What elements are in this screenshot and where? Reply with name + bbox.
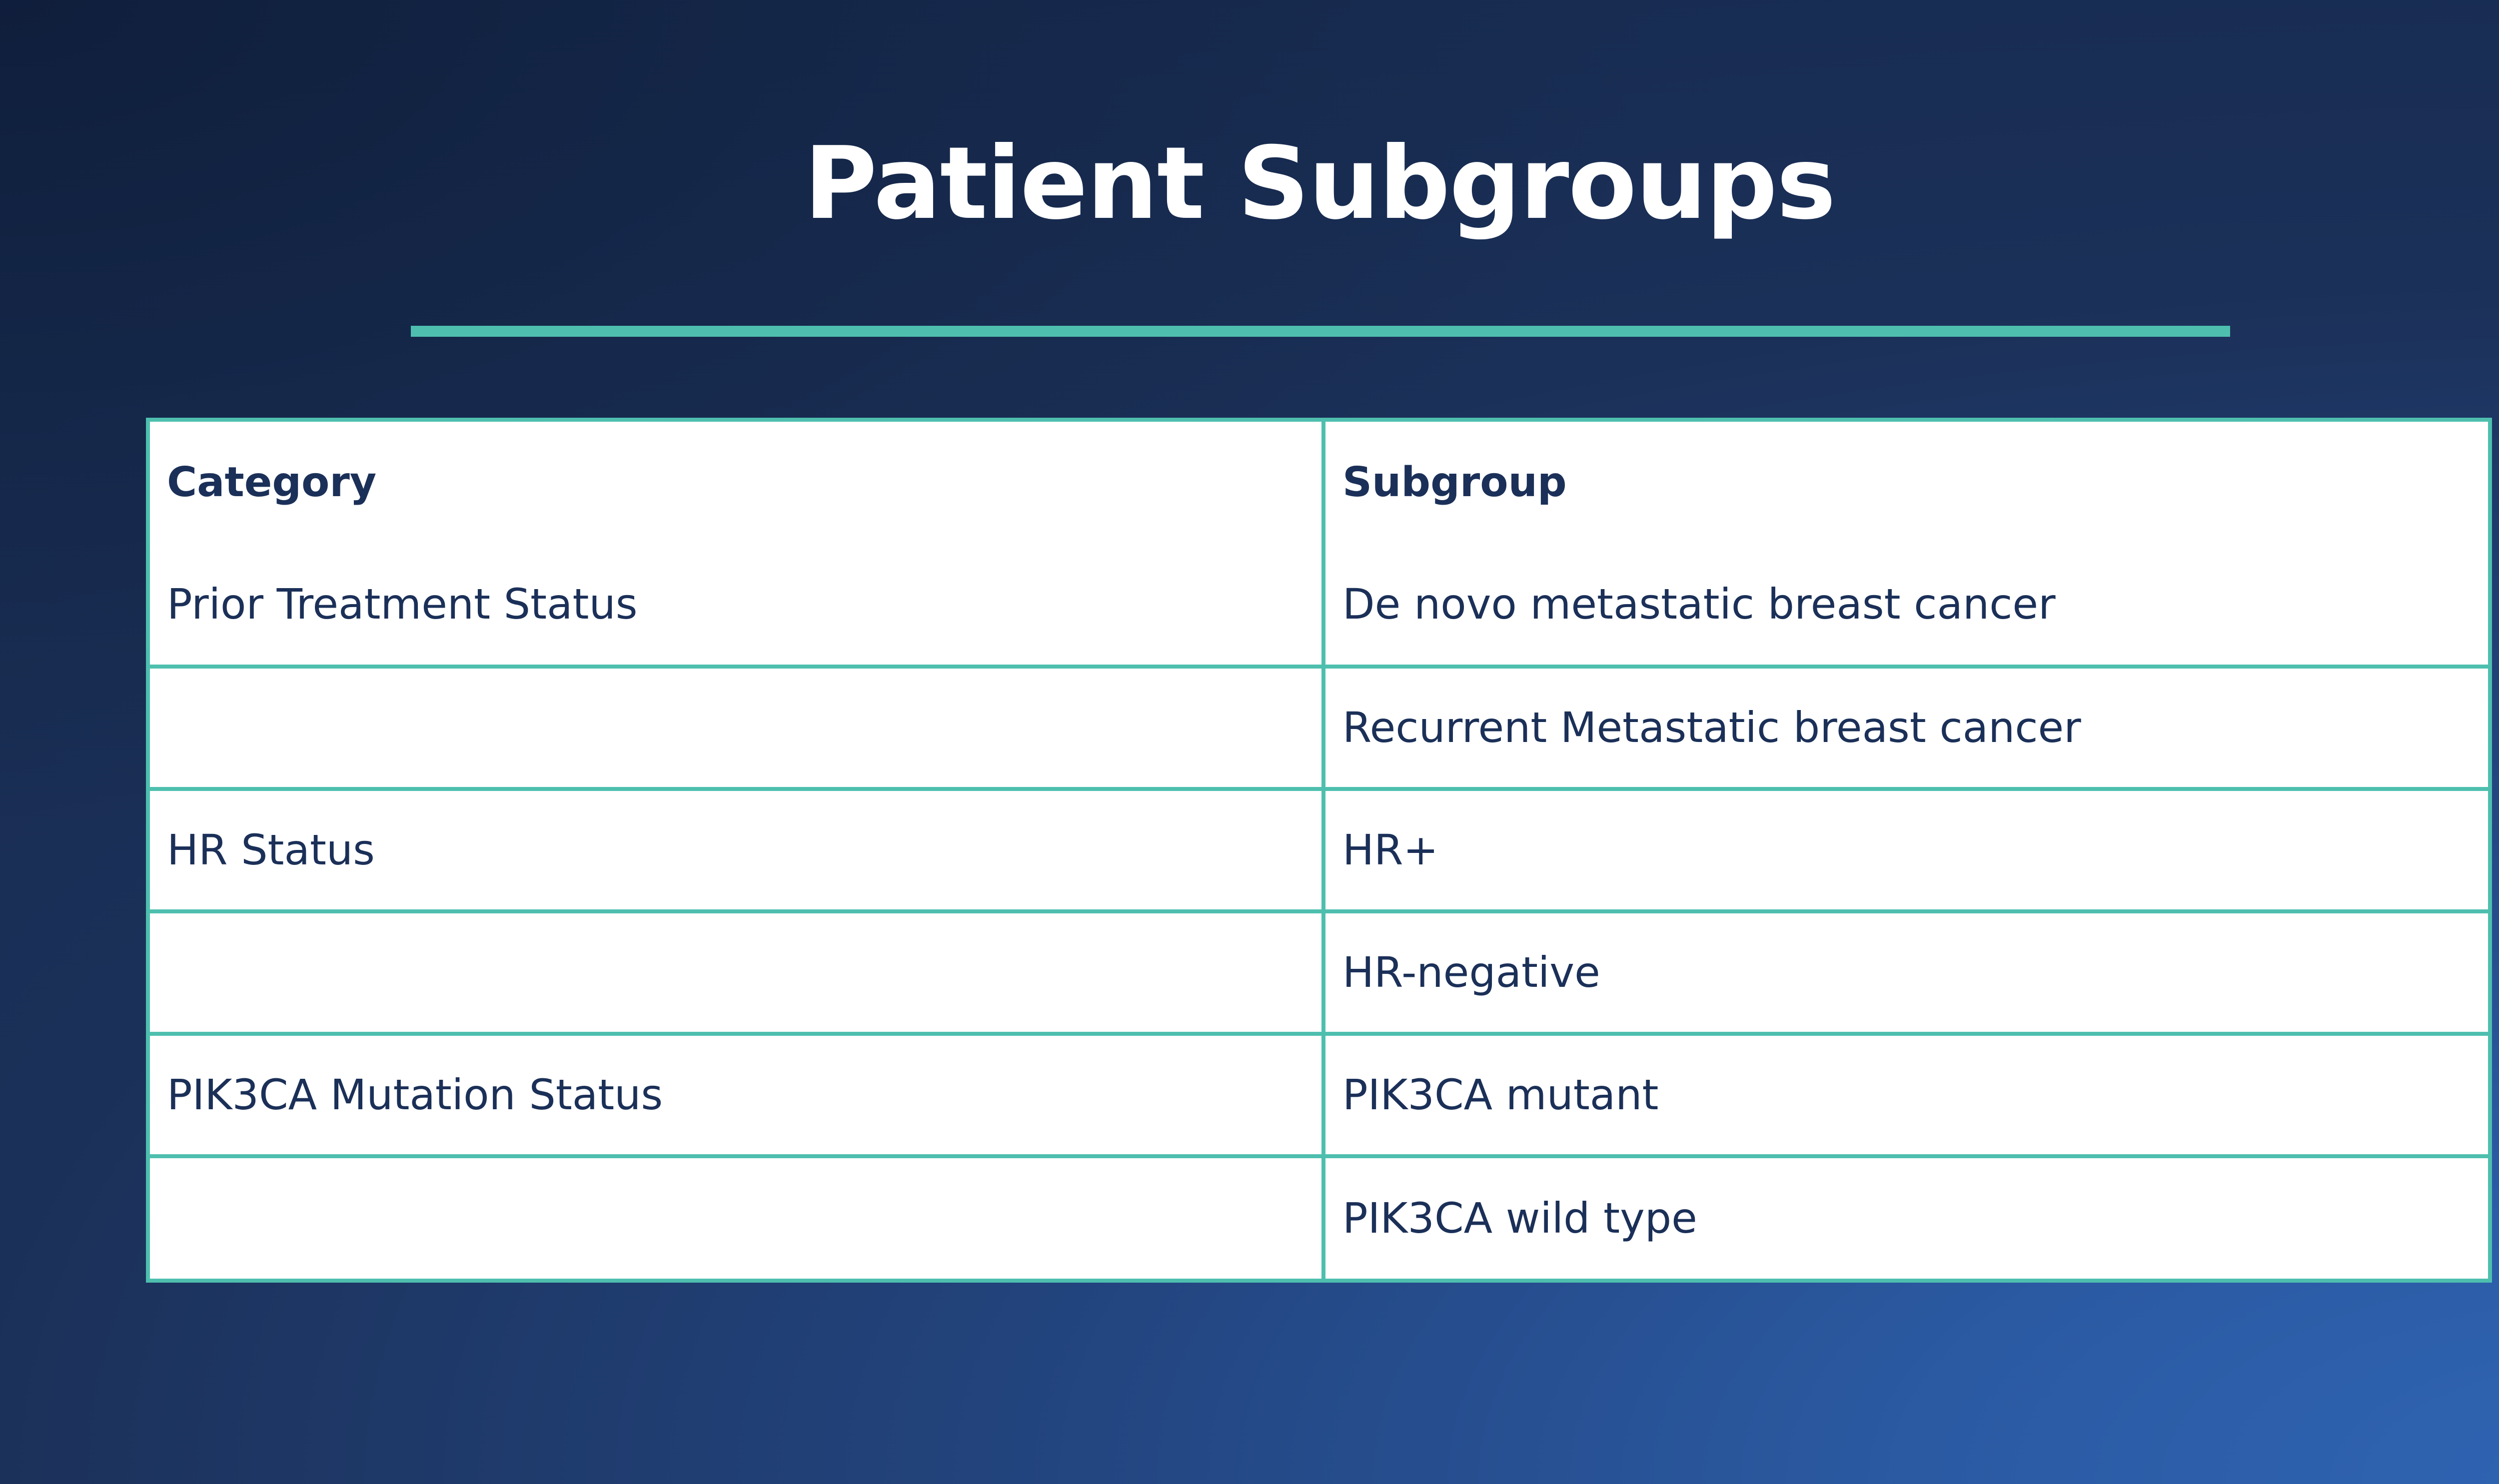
title-underline-rule: [411, 326, 2230, 337]
column-header-subgroup: Subgroup: [1323, 422, 2488, 544]
cell-subgroup: HR+: [1323, 789, 2488, 911]
cell-subgroup: Recurrent Metastatic breast cancer: [1323, 667, 2488, 789]
table-row: Prior Treatment Status De novo metastati…: [150, 544, 2488, 667]
cell-category: PIK3CA Mutation Status: [150, 1034, 1323, 1156]
table-row: PIK3CA wild type: [150, 1156, 2488, 1279]
cell-subgroup: De novo metastatic breast cancer: [1323, 544, 2488, 667]
column-header-category: Category: [150, 422, 1323, 544]
cell-category: HR Status: [150, 789, 1323, 911]
cell-category: [150, 667, 1323, 789]
cell-subgroup: PIK3CA wild type: [1323, 1156, 2488, 1279]
cell-category: [150, 911, 1323, 1034]
cell-category: [150, 1156, 1323, 1279]
presentation-slide: Patient Subgroups Category Subgroup Prio…: [0, 0, 2499, 1484]
table-row: HR-negative: [150, 911, 2488, 1034]
table-row: PIK3CA Mutation Status PIK3CA mutant: [150, 1034, 2488, 1156]
table-header-row: Category Subgroup: [150, 422, 2488, 544]
table-row: Recurrent Metastatic breast cancer: [150, 667, 2488, 789]
table-row: HR Status HR+: [150, 789, 2488, 911]
cell-subgroup: PIK3CA mutant: [1323, 1034, 2488, 1156]
patient-subgroups-table: Category Subgroup Prior Treatment Status…: [146, 418, 2492, 1283]
cell-category: Prior Treatment Status: [150, 544, 1323, 667]
cell-subgroup: HR-negative: [1323, 911, 2488, 1034]
title-block: Patient Subgroups: [0, 134, 2499, 234]
page-title: Patient Subgroups: [0, 134, 2499, 234]
